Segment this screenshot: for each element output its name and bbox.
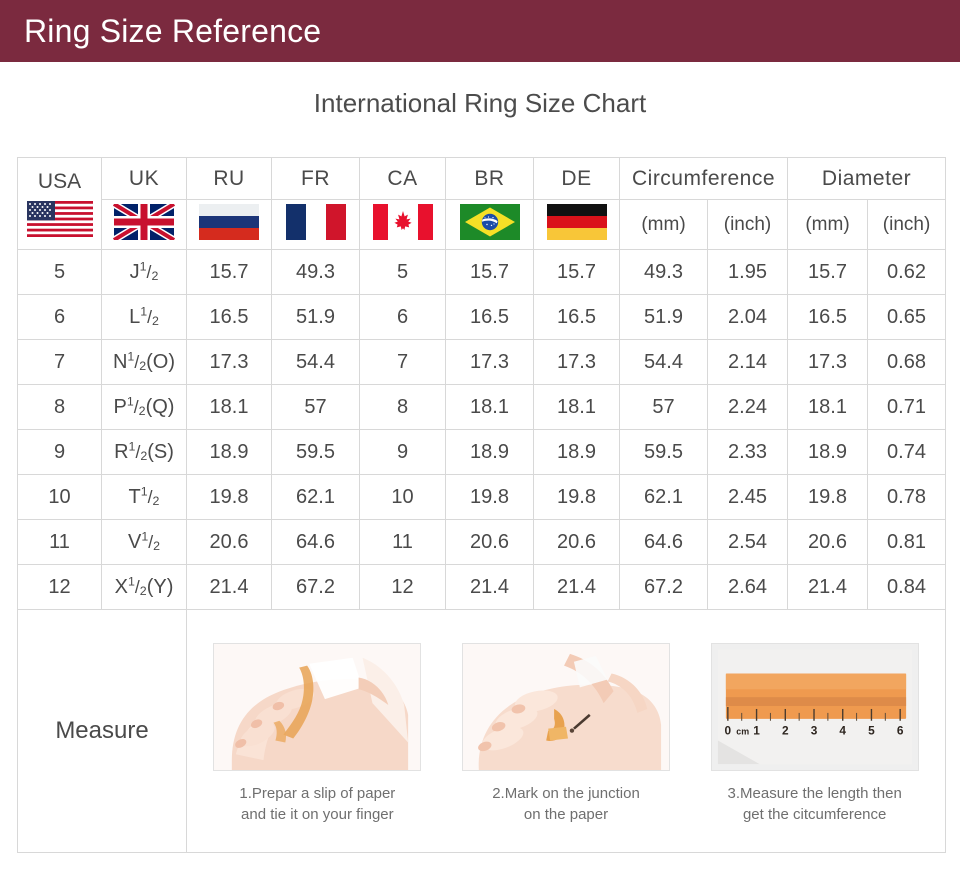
flag-de-icon	[546, 204, 608, 240]
table-body: 5J1/215.749.3515.715.749.31.9515.70.626L…	[18, 250, 946, 610]
cell-br: 18.1	[446, 385, 534, 430]
uk-size-fraction: R1/2(S)	[114, 441, 174, 463]
header-row-labels: USA	[18, 158, 946, 200]
cell-diameter-mm: 19.8	[788, 475, 868, 520]
cell-circumference-inch: 2.24	[708, 385, 788, 430]
measure-step-3-caption: 3.Measure the length then get the citcum…	[728, 784, 902, 825]
table-row: 9R1/2(S)18.959.5918.918.959.52.3318.90.7…	[18, 430, 946, 475]
svg-text:1: 1	[753, 724, 760, 738]
uk-size-fraction: T1/2	[129, 486, 160, 508]
svg-text:5: 5	[868, 724, 875, 738]
column-header-uk-label: UK	[102, 158, 187, 200]
cell-ru: 17.3	[187, 340, 272, 385]
cell-uk: J1/2	[102, 250, 187, 295]
cell-usa: 8	[18, 385, 102, 430]
cell-br: 17.3	[446, 340, 534, 385]
column-header-circumference-mm: (mm)	[620, 200, 708, 250]
size-chart-container: USA	[17, 157, 945, 853]
header-row-flags-units: (mm) (inch) (mm) (inch)	[18, 200, 946, 250]
cell-ru: 18.1	[187, 385, 272, 430]
table-header: USA	[18, 158, 946, 250]
svg-text:cm: cm	[736, 727, 749, 737]
flag-usa-icon	[27, 201, 93, 237]
flag-ca-icon	[372, 204, 434, 240]
table-row: 7N1/2(O)17.354.4717.317.354.42.1417.30.6…	[18, 340, 946, 385]
cell-ru: 20.6	[187, 520, 272, 565]
cell-circumference-mm: 54.4	[620, 340, 708, 385]
cell-br: 21.4	[446, 565, 534, 610]
cell-circumference-inch: 2.14	[708, 340, 788, 385]
cell-ca: 7	[360, 340, 446, 385]
cell-ca: 8	[360, 385, 446, 430]
column-header-usa: USA	[18, 158, 102, 250]
cell-uk: R1/2(S)	[102, 430, 187, 475]
cell-circumference-mm: 57	[620, 385, 708, 430]
column-header-fr-label: FR	[272, 158, 360, 200]
table-row: 8P1/2(Q)18.157818.118.1572.2418.10.71	[18, 385, 946, 430]
column-header-circumference: Circumference	[620, 158, 788, 200]
svg-text:0: 0	[724, 724, 731, 738]
cell-uk: X1/2(Y)	[102, 565, 187, 610]
cell-usa: 5	[18, 250, 102, 295]
cell-circumference-inch: 2.04	[708, 295, 788, 340]
cell-diameter-mm: 18.9	[788, 430, 868, 475]
cell-de: 19.8	[534, 475, 620, 520]
table-row: 5J1/215.749.3515.715.749.31.9515.70.62	[18, 250, 946, 295]
cell-ru: 21.4	[187, 565, 272, 610]
column-header-circumference-inch: (inch)	[708, 200, 788, 250]
cell-diameter-mm: 21.4	[788, 565, 868, 610]
column-header-diameter: Diameter	[788, 158, 946, 200]
cell-circumference-mm: 51.9	[620, 295, 708, 340]
column-header-ru-label: RU	[187, 158, 272, 200]
column-header-br-flag	[446, 200, 534, 250]
svg-text:4: 4	[839, 724, 846, 738]
flag-uk-icon	[113, 204, 175, 240]
column-header-usa-label: USA	[38, 170, 81, 194]
cell-uk: P1/2(Q)	[102, 385, 187, 430]
flag-fr-icon	[285, 204, 347, 240]
cell-diameter-inch: 0.84	[868, 565, 946, 610]
cell-uk: N1/2(O)	[102, 340, 187, 385]
cell-br: 18.9	[446, 430, 534, 475]
measure-step-3: 0 cm 1 2 3 4 5 6	[702, 643, 928, 825]
hand-with-paper-strip-photo	[213, 643, 421, 771]
column-header-ru-flag	[187, 200, 272, 250]
cell-de: 15.7	[534, 250, 620, 295]
measure-section: Measure	[18, 610, 946, 853]
cell-de: 21.4	[534, 565, 620, 610]
cell-de: 16.5	[534, 295, 620, 340]
cell-br: 15.7	[446, 250, 534, 295]
column-header-de-flag	[534, 200, 620, 250]
cell-uk: T1/2	[102, 475, 187, 520]
table-row: 6L1/216.551.9616.516.551.92.0416.50.65	[18, 295, 946, 340]
cell-circumference-mm: 67.2	[620, 565, 708, 610]
column-header-de-label: DE	[534, 158, 620, 200]
svg-text:6: 6	[897, 724, 904, 738]
cell-fr: 59.5	[272, 430, 360, 475]
cell-usa: 12	[18, 565, 102, 610]
cell-ru: 19.8	[187, 475, 272, 520]
cell-diameter-mm: 17.3	[788, 340, 868, 385]
cell-usa: 7	[18, 340, 102, 385]
uk-size-fraction: P1/2(Q)	[114, 396, 175, 418]
cell-fr: 64.6	[272, 520, 360, 565]
cell-ca: 5	[360, 250, 446, 295]
cell-diameter-inch: 0.78	[868, 475, 946, 520]
cell-usa: 11	[18, 520, 102, 565]
cell-br: 20.6	[446, 520, 534, 565]
column-header-diameter-inch: (inch)	[868, 200, 946, 250]
cell-ca: 12	[360, 565, 446, 610]
measure-label: Measure	[18, 610, 187, 853]
column-header-ca-label: CA	[360, 158, 446, 200]
uk-size-fraction: L1/2	[129, 306, 159, 328]
cell-circumference-mm: 64.6	[620, 520, 708, 565]
cell-ru: 16.5	[187, 295, 272, 340]
cell-circumference-inch: 2.33	[708, 430, 788, 475]
cell-usa: 10	[18, 475, 102, 520]
cell-diameter-mm: 15.7	[788, 250, 868, 295]
cell-uk: V1/2	[102, 520, 187, 565]
table-row: 11V1/220.664.61120.620.664.62.5420.60.81	[18, 520, 946, 565]
cell-diameter-mm: 18.1	[788, 385, 868, 430]
cell-fr: 54.4	[272, 340, 360, 385]
cell-ca: 11	[360, 520, 446, 565]
uk-size-fraction: X1/2(Y)	[115, 576, 174, 598]
cell-circumference-inch: 1.95	[708, 250, 788, 295]
ring-size-reference-page: Ring Size Reference International Ring S…	[0, 0, 960, 882]
flag-br-icon	[459, 204, 521, 240]
uk-size-fraction: N1/2(O)	[113, 351, 175, 373]
cell-diameter-inch: 0.71	[868, 385, 946, 430]
cell-ca: 9	[360, 430, 446, 475]
cell-circumference-inch: 2.64	[708, 565, 788, 610]
cell-de: 17.3	[534, 340, 620, 385]
measure-step-2: 2.Mark on the junction on the paper	[453, 643, 679, 825]
cell-fr: 57	[272, 385, 360, 430]
column-header-uk-flag	[102, 200, 187, 250]
cell-usa: 6	[18, 295, 102, 340]
measure-step-1: 1.Prepar a slip of paper and tie it on y…	[204, 643, 430, 825]
column-header-diameter-mm: (mm)	[788, 200, 868, 250]
cell-diameter-inch: 0.74	[868, 430, 946, 475]
table-row: 10T1/219.862.11019.819.862.12.4519.80.78	[18, 475, 946, 520]
banner-title: Ring Size Reference	[24, 13, 321, 50]
cell-br: 19.8	[446, 475, 534, 520]
cell-circumference-inch: 2.45	[708, 475, 788, 520]
cell-circumference-inch: 2.54	[708, 520, 788, 565]
measure-row: Measure	[18, 610, 946, 853]
cell-fr: 62.1	[272, 475, 360, 520]
column-header-fr-flag	[272, 200, 360, 250]
cell-diameter-inch: 0.81	[868, 520, 946, 565]
uk-size-fraction: V1/2	[128, 531, 160, 553]
page-banner: Ring Size Reference	[0, 0, 960, 62]
cell-diameter-inch: 0.68	[868, 340, 946, 385]
svg-text:2: 2	[782, 724, 789, 738]
ring-size-table: USA	[17, 157, 946, 853]
column-header-ca-flag	[360, 200, 446, 250]
measure-steps: 1.Prepar a slip of paper and tie it on y…	[187, 625, 945, 837]
column-header-br-label: BR	[446, 158, 534, 200]
cell-circumference-mm: 62.1	[620, 475, 708, 520]
flag-ru-icon	[198, 204, 260, 240]
cell-circumference-mm: 49.3	[620, 250, 708, 295]
cell-diameter-inch: 0.62	[868, 250, 946, 295]
cell-fr: 67.2	[272, 565, 360, 610]
svg-text:3: 3	[810, 724, 817, 738]
cell-ru: 15.7	[187, 250, 272, 295]
cell-br: 16.5	[446, 295, 534, 340]
cell-fr: 51.9	[272, 295, 360, 340]
cell-diameter-mm: 20.6	[788, 520, 868, 565]
measure-steps-cell: 1.Prepar a slip of paper and tie it on y…	[187, 610, 946, 853]
uk-size-fraction: J1/2	[130, 261, 159, 283]
cell-diameter-inch: 0.65	[868, 295, 946, 340]
cell-diameter-mm: 16.5	[788, 295, 868, 340]
cell-ca: 10	[360, 475, 446, 520]
cell-circumference-mm: 59.5	[620, 430, 708, 475]
ruler-measuring-strip-photo: 0 cm 1 2 3 4 5 6	[711, 643, 919, 771]
cell-de: 18.1	[534, 385, 620, 430]
page-title: International Ring Size Chart	[0, 88, 960, 119]
cell-ca: 6	[360, 295, 446, 340]
measure-step-2-caption: 2.Mark on the junction on the paper	[492, 784, 640, 825]
cell-usa: 9	[18, 430, 102, 475]
table-row: 12X1/2(Y)21.467.21221.421.467.22.6421.40…	[18, 565, 946, 610]
cell-de: 18.9	[534, 430, 620, 475]
hand-marking-paper-photo	[462, 643, 670, 771]
measure-step-1-caption: 1.Prepar a slip of paper and tie it on y…	[239, 784, 395, 825]
cell-uk: L1/2	[102, 295, 187, 340]
cell-ru: 18.9	[187, 430, 272, 475]
cell-de: 20.6	[534, 520, 620, 565]
cell-fr: 49.3	[272, 250, 360, 295]
